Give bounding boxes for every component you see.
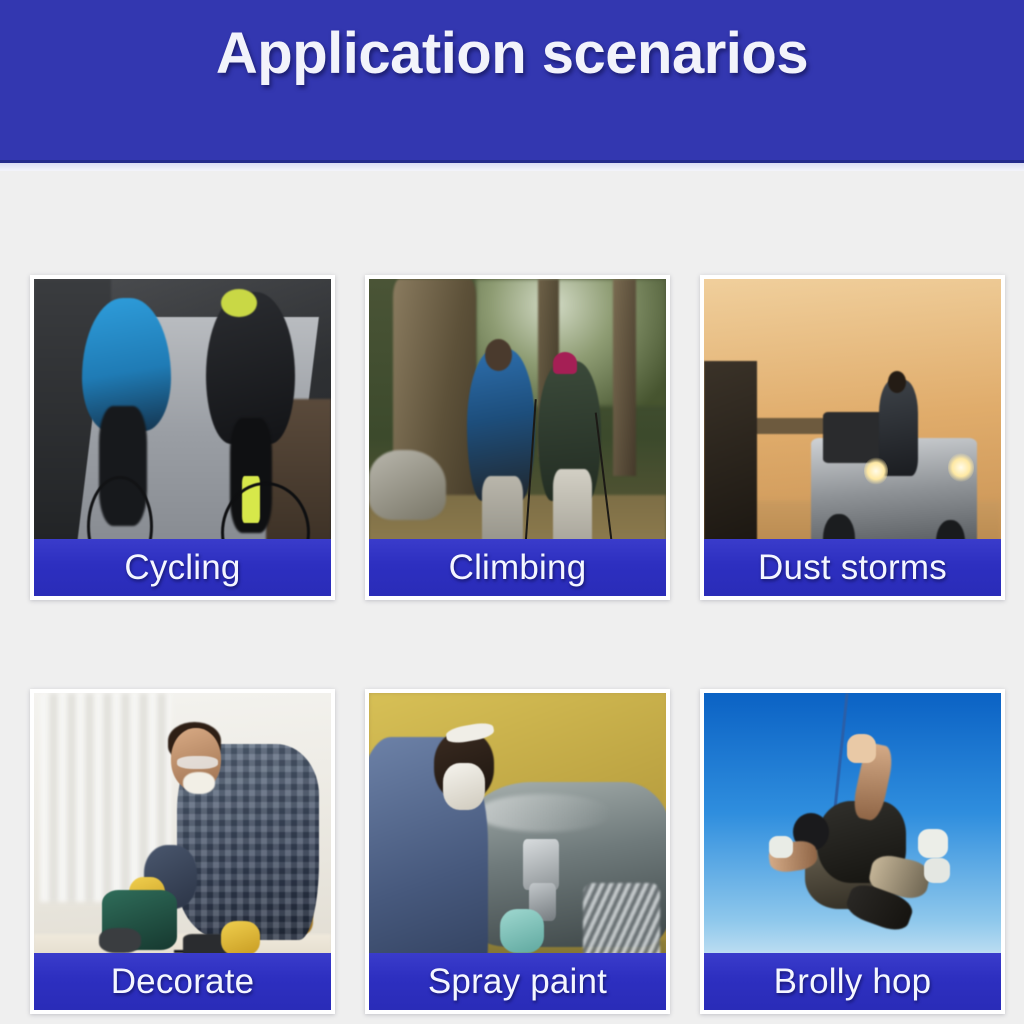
caption-bar-dust-storms: Dust storms <box>704 539 1001 596</box>
scenario-label-brolly-hop: Brolly hop <box>774 962 932 1002</box>
scenario-card-dust-storms[interactable]: Dust storms <box>700 275 1005 600</box>
page-title: Application scenarios <box>216 20 808 87</box>
scenario-card-cycling[interactable]: Cycling <box>30 275 335 600</box>
scenario-label-cycling: Cycling <box>124 548 240 588</box>
banner-underglow-divider <box>0 163 1024 171</box>
caption-bar-spray-paint: Spray paint <box>369 953 666 1010</box>
caption-bar-decorate: Decorate <box>34 953 331 1010</box>
scenario-card-climbing[interactable]: Climbing <box>365 275 670 600</box>
scenario-card-spray-paint[interactable]: Spray paint <box>365 689 670 1014</box>
caption-bar-cycling: Cycling <box>34 539 331 596</box>
scenario-card-brolly-hop[interactable]: Brolly hop <box>700 689 1005 1014</box>
scenario-label-decorate: Decorate <box>111 962 255 1002</box>
page-header-banner: Application scenarios <box>0 0 1024 163</box>
scenario-label-spray-paint: Spray paint <box>428 962 607 1002</box>
caption-bar-climbing: Climbing <box>369 539 666 596</box>
scenario-card-grid: Cycling Climbing Dust storms <box>30 275 1000 1024</box>
scenario-card-decorate[interactable]: Decorate <box>30 689 335 1014</box>
scenario-label-dust-storms: Dust storms <box>758 548 947 588</box>
scenario-label-climbing: Climbing <box>449 548 587 588</box>
caption-bar-brolly-hop: Brolly hop <box>704 953 1001 1010</box>
